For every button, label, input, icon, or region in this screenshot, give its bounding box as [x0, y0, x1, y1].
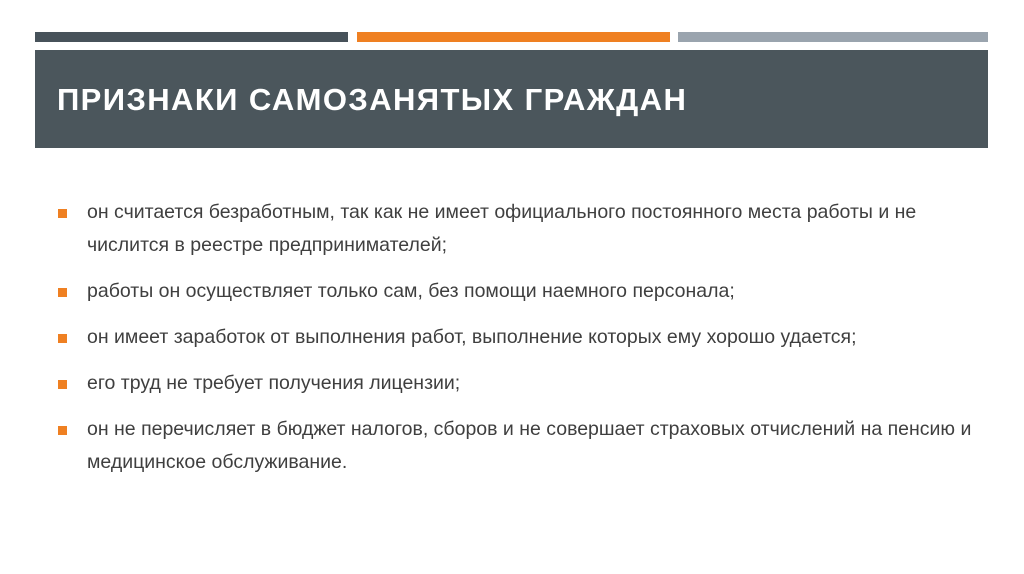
square-bullet-icon — [58, 288, 67, 297]
square-bullet-icon — [58, 380, 67, 389]
bullet-list: он считается безработным, так как не име… — [40, 196, 990, 492]
title-band: ПРИЗНАКИ САМОЗАНЯТЫХ ГРАЖДАН — [35, 50, 988, 148]
list-item-text: работы он осуществляет только сам, без п… — [87, 275, 987, 308]
top-rule-dark — [35, 32, 348, 42]
list-item: работы он осуществляет только сам, без п… — [40, 275, 990, 308]
list-item-text: он считается безработным, так как не име… — [87, 196, 987, 262]
square-bullet-icon — [58, 334, 67, 343]
page-title: ПРИЗНАКИ САМОЗАНЯТЫХ ГРАЖДАН — [35, 84, 687, 115]
top-rule-light — [678, 32, 988, 42]
list-item: его труд не требует получения лицензии; — [40, 367, 990, 400]
list-item-text: он не перечисляет в бюджет налогов, сбор… — [87, 413, 987, 479]
list-item: он считается безработным, так как не име… — [40, 196, 990, 262]
decorative-top-rules — [35, 32, 988, 42]
square-bullet-icon — [58, 209, 67, 218]
list-item-text: его труд не требует получения лицензии; — [87, 367, 987, 400]
list-item-text: он имеет заработок от выполнения работ, … — [87, 321, 987, 354]
list-item: он не перечисляет в бюджет налогов, сбор… — [40, 413, 990, 479]
square-bullet-icon — [58, 426, 67, 435]
top-rule-accent — [357, 32, 670, 42]
list-item: он имеет заработок от выполнения работ, … — [40, 321, 990, 354]
slide: ПРИЗНАКИ САМОЗАНЯТЫХ ГРАЖДАН он считаетс… — [0, 0, 1024, 574]
